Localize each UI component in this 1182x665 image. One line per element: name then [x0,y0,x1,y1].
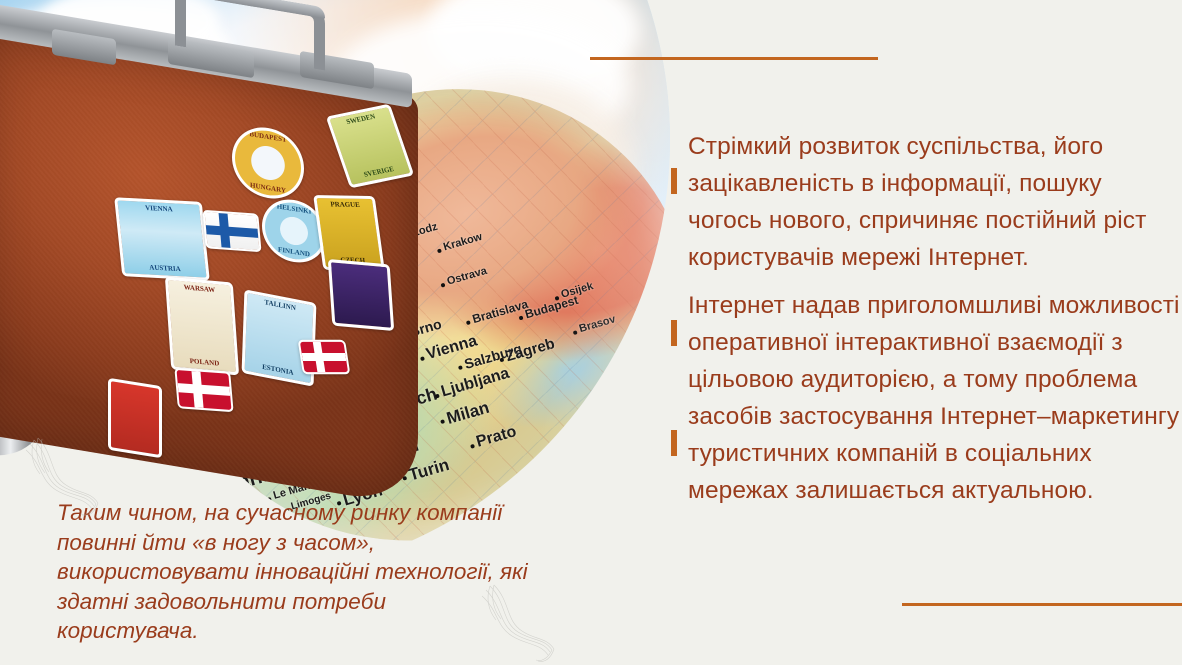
sticker-vienna-austria: VIENNAAUSTRIA [114,197,210,281]
paragraph-internet-growth-line: користувачів мережі Інтернет. [688,239,1182,276]
accent-bar-marker [671,430,677,456]
ribbon-wave-center-icon [470,580,560,665]
paragraph-internet-growth-line: Стрімкий розвиток суспільства, його [688,128,1182,165]
paragraph-internet-marketing-line: оперативної інтерактивної взаємодії з [688,324,1182,361]
sticker-prague-czech: PRAGUECZECH [313,195,385,271]
conclusion-line: Таким чином, на сучасному ринку компанії [57,498,597,528]
paragraph-internet-growth-line: чогось нового, спричиняє постійний ріст [688,202,1182,239]
paragraph-internet-marketing-line: цільовою аудиторією, а тому проблема [688,361,1182,398]
paragraph-internet-marketing-line: мережах залишається актуальною. [688,472,1182,509]
norway-flag-icon [298,340,351,374]
sticker-alexandria [108,378,162,459]
slide-canvas: ParisLe MansNantesLimogesDijonLyonBaselB… [0,0,1182,665]
ribbon-wave-left-icon [16,430,106,525]
bottom-divider-line [902,603,1182,606]
accent-bar-marker [671,320,677,346]
sticker-night-city [328,259,394,331]
paragraph-internet-marketing-line: Інтернет надав приголомшливі можливості [688,287,1182,324]
finland-flag-icon [202,210,261,252]
paragraph-internet-marketing-line: засобів застосування Інтернет–маркетингу [688,398,1182,435]
top-divider-line [590,57,878,60]
sticker-warsaw-poland: WARSAWPOLAND [165,277,239,376]
conclusion-line: повинні йти «в ногу з часом», [57,528,597,558]
paragraph-internet-growth-line: зацікавленість в інформації, пошуку [688,165,1182,202]
accent-bar-marker [671,168,677,194]
paragraph-internet-marketing: Інтернет надав приголомшливі можливостіо… [688,287,1182,509]
paragraph-internet-marketing-line: туристичних компаній в соціальних [688,435,1182,472]
denmark-flag-icon [174,368,233,412]
paragraph-internet-growth: Стрімкий розвиток суспільства, йогозацік… [688,128,1182,276]
